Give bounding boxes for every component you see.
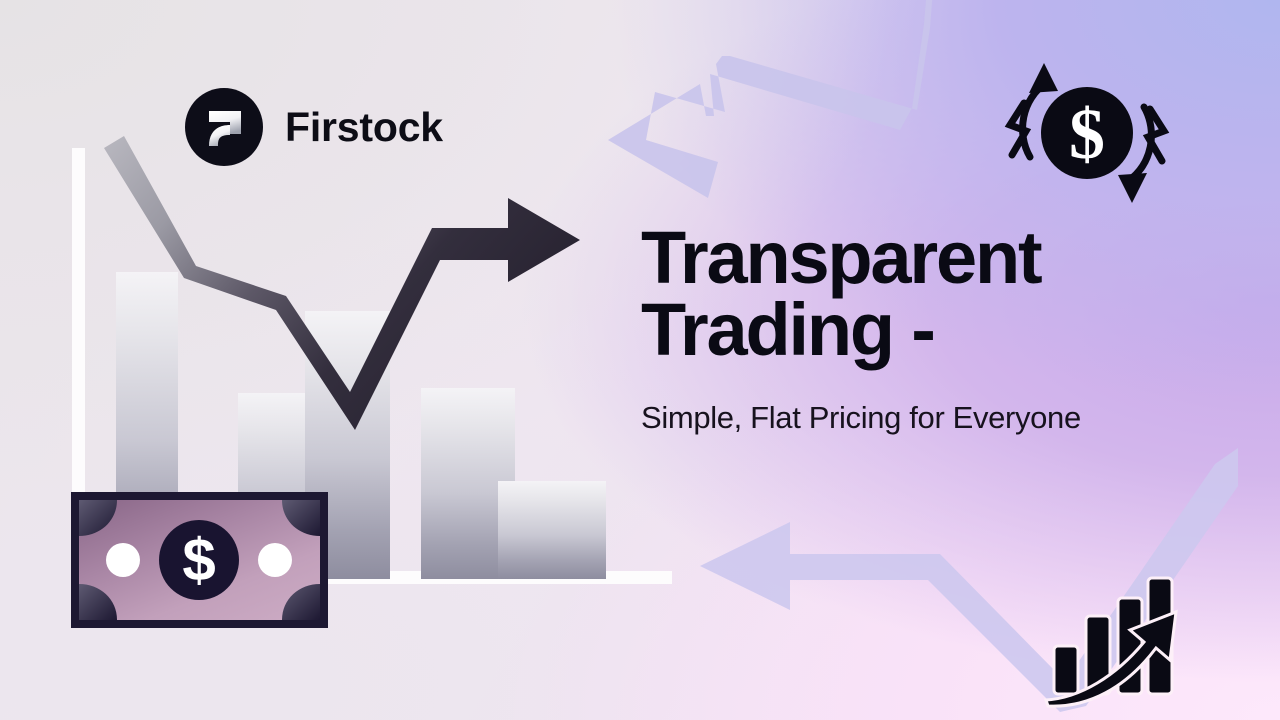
svg-text:$: $	[182, 527, 215, 594]
svg-text:$: $	[1069, 94, 1105, 174]
page-subtitle: Simple, Flat Pricing for Everyone	[641, 400, 1201, 436]
brand-logo[interactable]: Firstock	[185, 88, 443, 166]
chart-trend-line-arrow-icon	[80, 130, 600, 460]
page-title: Transparent Trading -	[641, 222, 1201, 366]
pricing-banner: $ Firstock Transparent Trading - Simple,…	[0, 0, 1280, 720]
copy-block: Transparent Trading - Simple, Flat Prici…	[641, 222, 1201, 435]
brand-name: Firstock	[285, 107, 443, 148]
chart-bar	[498, 481, 606, 579]
dollar-coin-refresh-icon: $	[996, 55, 1178, 211]
growth-bar-chart-arrow-icon	[1040, 572, 1200, 712]
dollar-banknote-icon: $	[70, 491, 329, 629]
firstock-arrow-mark-icon	[185, 88, 263, 166]
